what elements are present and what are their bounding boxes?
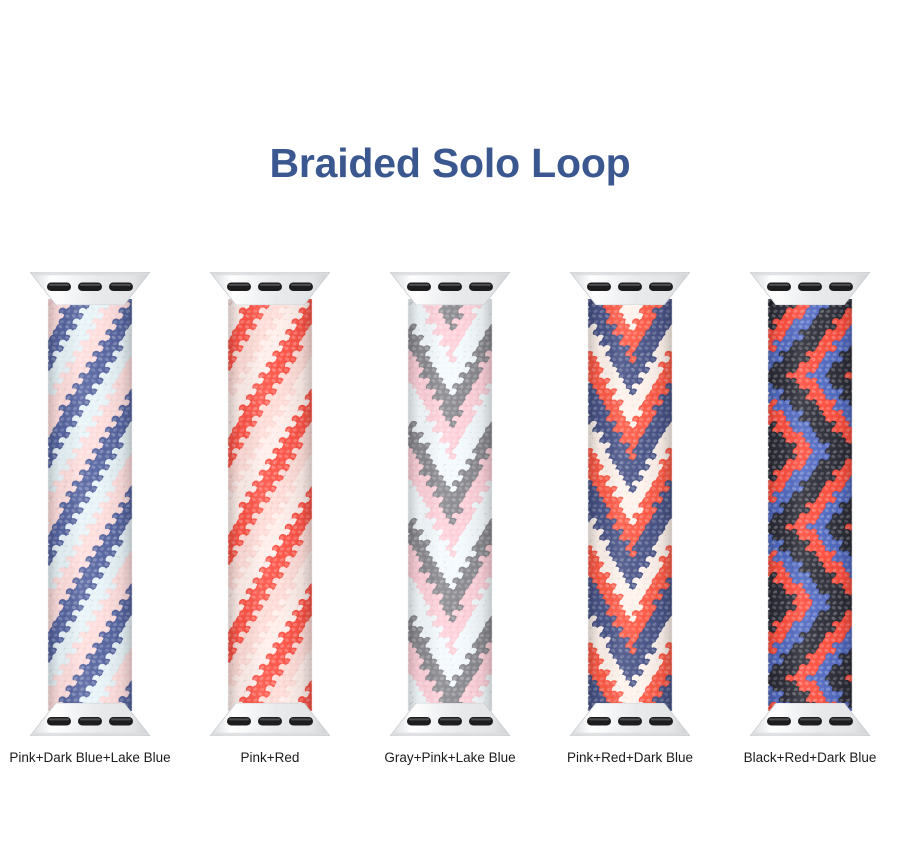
watch-lug-bottom — [390, 703, 510, 736]
watch-band-image — [210, 272, 330, 740]
band-item[interactable]: Gray+Pink+Lake Blue — [366, 272, 534, 782]
watch-lug-top — [390, 272, 510, 305]
watch-band-image — [30, 272, 150, 740]
watch-band-image — [570, 272, 690, 740]
watch-lug-bottom — [210, 703, 330, 736]
strap-weave-texture — [767, 299, 853, 711]
watch-lug-top — [210, 272, 330, 305]
braided-strap — [47, 299, 133, 711]
band-item[interactable]: Pink+Red+Dark Blue — [546, 272, 714, 782]
band-color-label: Black+Red+Dark Blue — [744, 750, 877, 767]
band-item[interactable]: Pink+Dark Blue+Lake Blue — [6, 272, 174, 782]
braided-strap — [407, 299, 493, 711]
watch-lug-bottom — [750, 703, 870, 736]
braided-strap — [227, 299, 313, 711]
watch-lug-bottom — [30, 703, 150, 736]
watch-lug-top — [750, 272, 870, 305]
title-container: Braided Solo Loop — [0, 143, 900, 184]
strap-weave-texture — [227, 299, 313, 711]
watch-band-image — [750, 272, 870, 740]
watch-lug-top — [30, 272, 150, 305]
band-color-label: Pink+Red+Dark Blue — [567, 750, 693, 767]
band-item[interactable]: Black+Red+Dark Blue — [726, 272, 894, 782]
watch-band-image — [390, 272, 510, 740]
band-item[interactable]: Pink+Red — [186, 272, 354, 782]
page-title: Braided Solo Loop — [0, 143, 900, 184]
product-image-page: Braided Solo Loop Pink+Dark Blue+Lake Bl… — [0, 0, 900, 862]
band-color-label: Gray+Pink+Lake Blue — [384, 750, 515, 767]
braided-strap — [587, 299, 673, 711]
band-color-label: Pink+Dark Blue+Lake Blue — [9, 750, 170, 767]
strap-weave-texture — [587, 299, 673, 711]
braided-strap — [767, 299, 853, 711]
watch-lug-top — [570, 272, 690, 305]
strap-weave-texture — [47, 299, 133, 711]
band-color-label: Pink+Red — [241, 750, 300, 767]
strap-weave-texture — [407, 299, 493, 711]
band-gallery: Pink+Dark Blue+Lake BluePink+RedGray+Pin… — [0, 272, 900, 782]
watch-lug-bottom — [570, 703, 690, 736]
